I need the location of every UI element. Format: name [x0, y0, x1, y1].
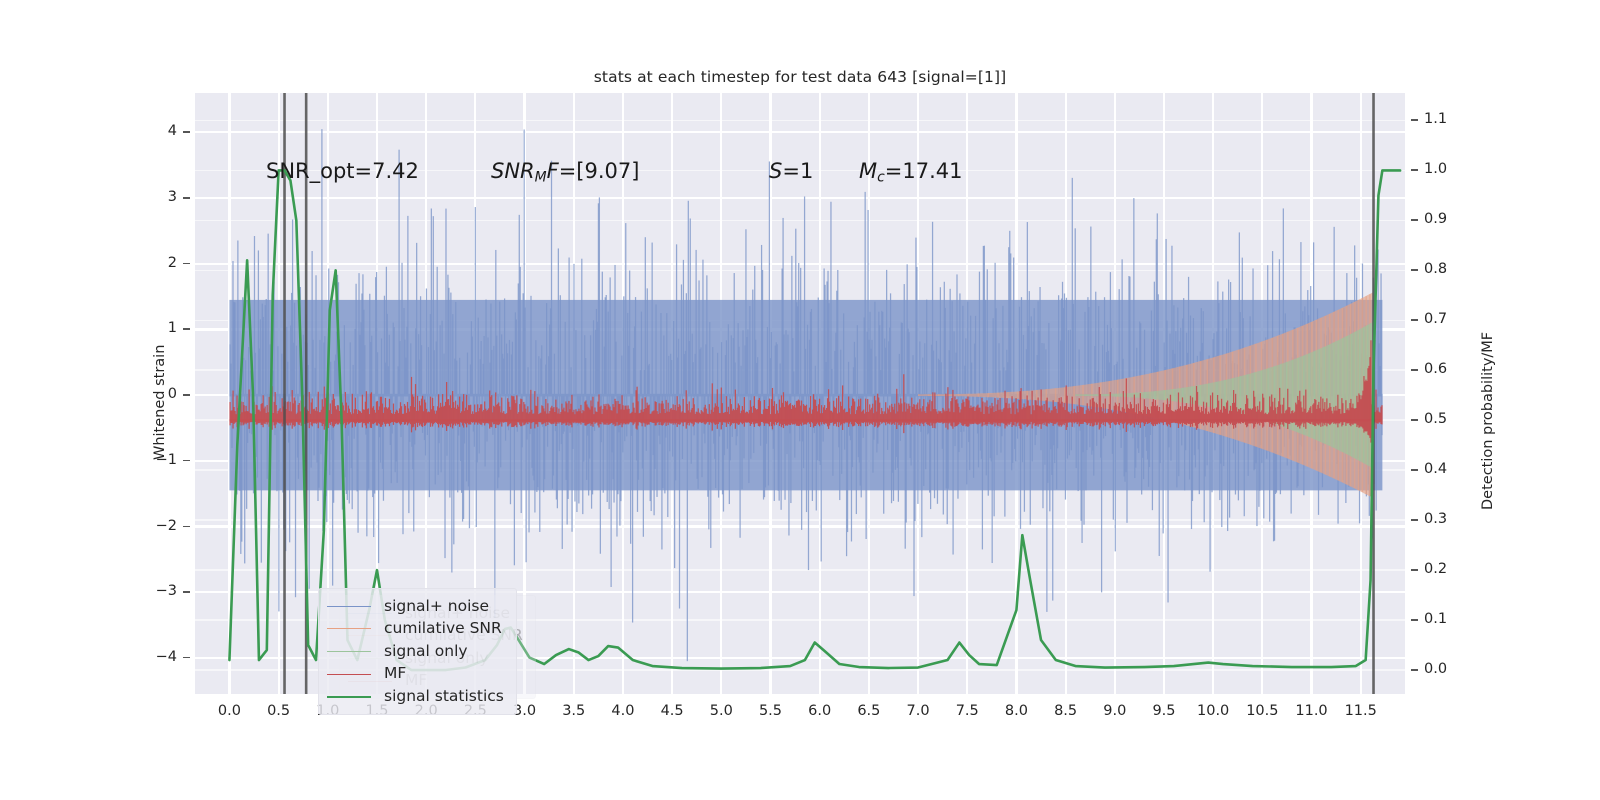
y-tick-label-right: 0.1 [1424, 611, 1447, 627]
x-tick-label: 4.5 [655, 703, 689, 719]
y-tick-mark-right [1411, 319, 1418, 321]
annotation-snr-mf: SNRMF=[9.07] [491, 159, 639, 185]
y-tick-mark-right [1411, 469, 1418, 471]
y-tick-mark-right [1411, 369, 1418, 371]
page-title: stats at each timestep for test data 643… [195, 68, 1405, 86]
y-tick-mark-right [1411, 669, 1418, 671]
y-tick-label-right: 1.0 [1424, 161, 1447, 177]
y-tick-label-left: 4 [0, 123, 177, 139]
y-tick-mark-right [1411, 169, 1418, 171]
y-tick-mark-left [183, 131, 190, 133]
x-tick-label: 11.0 [1295, 703, 1329, 719]
annotation-chirp-mass: Mc=17.41 [859, 159, 962, 185]
x-tick-label: 8.5 [1049, 703, 1083, 719]
legend-item[interactable]: cumilative SNR [327, 618, 504, 641]
legend-item-label: signal+ noise [384, 599, 489, 615]
x-tick-label: 8.0 [999, 703, 1033, 719]
y-tick-mark-left [183, 394, 190, 396]
x-tick-label: 9.5 [1147, 703, 1181, 719]
x-tick-label: 11.5 [1344, 703, 1378, 719]
legend-swatch-line [327, 674, 371, 675]
y-tick-label-left: 1 [0, 320, 177, 336]
y-tick-label-right: 0.7 [1424, 311, 1447, 327]
y-tick-mark-right [1411, 119, 1418, 121]
legend-item-label: signal only [384, 644, 468, 660]
x-tick-label: 3.5 [557, 703, 591, 719]
y-axis-label-left: Whitened strain [152, 345, 168, 460]
legend-swatch-line [327, 628, 371, 629]
x-tick-label: 9.0 [1098, 703, 1132, 719]
y-tick-mark-right [1411, 419, 1418, 421]
x-tick-label: 0.0 [212, 703, 246, 719]
x-tick-label: 10.0 [1196, 703, 1230, 719]
y-tick-label-left: 2 [0, 255, 177, 271]
y-tick-label-right: 0.8 [1424, 261, 1447, 277]
y-tick-label-left: −1 [0, 452, 177, 468]
legend-swatch-line [327, 696, 371, 698]
y-tick-label-left: −2 [0, 518, 177, 534]
y-tick-mark-left [183, 328, 190, 330]
y-tick-label-right: 0.0 [1424, 661, 1447, 677]
y-tick-label-right: 1.1 [1424, 111, 1447, 127]
y-tick-label-right: 0.9 [1424, 211, 1447, 227]
y-tick-mark-left [183, 591, 190, 593]
y-tick-label-right: 0.2 [1424, 561, 1447, 577]
y-tick-label-right: 0.6 [1424, 361, 1447, 377]
legend-item-label: cumilative SNR [384, 621, 502, 637]
annotation-s-stat: S=1 [769, 159, 813, 183]
legend-item[interactable]: signal statistics [327, 685, 504, 708]
y-tick-label-left: 3 [0, 189, 177, 205]
legend-foreground[interactable]: signal+ noisecumilative SNRsignal onlyMF… [318, 588, 517, 715]
y-tick-mark-left [183, 526, 190, 528]
y-axis-label-right: Detection probability/MF [1480, 332, 1496, 510]
x-tick-label: 7.5 [950, 703, 984, 719]
y-tick-mark-left [183, 657, 190, 659]
x-tick-label: 10.5 [1245, 703, 1279, 719]
legend-swatch-line [327, 606, 371, 607]
y-tick-label-left: −4 [0, 649, 177, 665]
x-tick-label: 5.0 [704, 703, 738, 719]
legend-item-label: signal statistics [384, 689, 504, 705]
y-tick-label-left: 0 [0, 386, 177, 402]
legend-item[interactable]: signal+ noise [327, 595, 504, 618]
legend-swatch-line [327, 651, 371, 652]
annotation-snr-opt: SNR_opt=7.42 [266, 159, 419, 183]
y-tick-mark-right [1411, 219, 1418, 221]
x-tick-label: 5.5 [753, 703, 787, 719]
legend-item[interactable]: MF [327, 663, 504, 686]
y-tick-label-right: 0.3 [1424, 511, 1447, 527]
y-tick-mark-left [183, 263, 190, 265]
x-tick-label: 6.0 [803, 703, 837, 719]
x-tick-label: 7.0 [901, 703, 935, 719]
legend-item-label: MF [384, 666, 406, 682]
x-tick-label: 6.5 [852, 703, 886, 719]
y-tick-label-right: 0.4 [1424, 461, 1447, 477]
y-tick-mark-right [1411, 519, 1418, 521]
y-tick-mark-right [1411, 269, 1418, 271]
y-tick-label-left: −3 [0, 583, 177, 599]
figure-canvas: stats at each timestep for test data 643… [0, 0, 1600, 800]
y-tick-label-right: 0.5 [1424, 411, 1447, 427]
y-tick-mark-left [183, 197, 190, 199]
y-tick-mark-right [1411, 569, 1418, 571]
x-tick-label: 0.5 [262, 703, 296, 719]
legend-item[interactable]: signal only [327, 640, 504, 663]
y-tick-mark-left [183, 460, 190, 462]
y-tick-mark-right [1411, 619, 1418, 621]
x-tick-label: 4.0 [606, 703, 640, 719]
